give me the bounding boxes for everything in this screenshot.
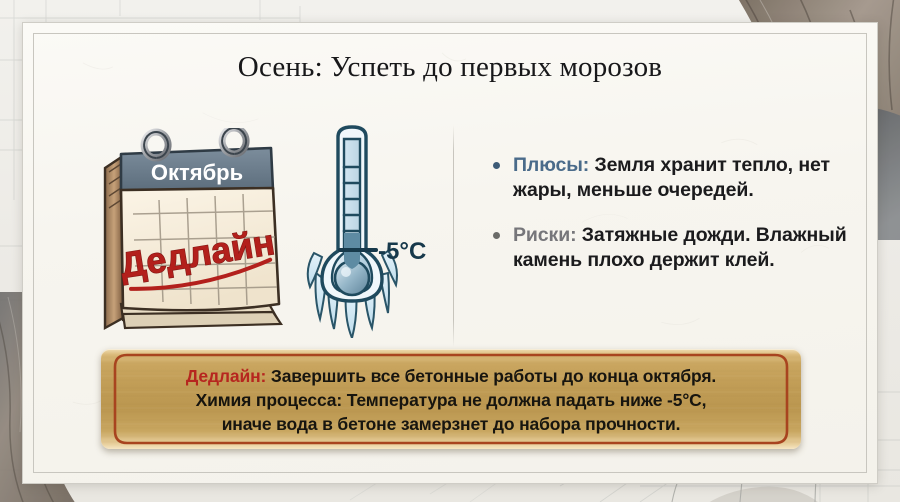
- plaque-keyword: Дедлайн:: [186, 366, 266, 386]
- bullet-label: Риски:: [513, 224, 576, 246]
- thermometer-icon: -5°C: [298, 123, 433, 338]
- page-title: Осень: Успеть до первых морозов: [23, 51, 877, 84]
- thermometer-value-label: -5°C: [378, 238, 426, 265]
- bullet-dot-icon: [493, 162, 500, 169]
- content-row: Октябрь Дедлайн: [23, 123, 877, 353]
- plaque-line: иначе вода в бетоне замерзнет до набора …: [135, 412, 767, 436]
- list-item: Плюсы: Земля хранит тепло, нет жары, мен…: [491, 153, 863, 203]
- illustration-zone: Октябрь Дедлайн: [83, 123, 433, 353]
- plaque-keyword: Химия процесса:: [196, 390, 342, 410]
- content-card: Осень: Успеть до первых морозов: [22, 22, 878, 484]
- plaque-text: Дедлайн: Завершить все бетонные работы д…: [135, 364, 767, 436]
- plaque-line: Дедлайн: Завершить все бетонные работы д…: [135, 364, 767, 388]
- plaque-line: Химия процесса: Температура не должна па…: [135, 388, 767, 412]
- calendar-month-label: Октябрь: [151, 160, 243, 185]
- list-item: Риски: Затяжные дожди. Влажный камень пл…: [491, 223, 863, 273]
- plaque-line-text: иначе вода в бетоне замерзнет до набора …: [222, 414, 681, 434]
- bullet-list: Плюсы: Земля хранит тепло, нет жары, мен…: [491, 153, 863, 273]
- calendar-icon: Октябрь Дедлайн: [93, 128, 298, 343]
- bullet-dot-icon: [493, 232, 500, 239]
- bullet-label: Плюсы:: [513, 154, 589, 176]
- vertical-divider: [453, 125, 454, 347]
- plaque-line-text: Температура не должна падать ниже -5°C,: [342, 390, 706, 410]
- plaque-line-text: Завершить все бетонные работы до конца о…: [266, 366, 716, 386]
- highlight-plaque: Дедлайн: Завершить все бетонные работы д…: [101, 349, 801, 449]
